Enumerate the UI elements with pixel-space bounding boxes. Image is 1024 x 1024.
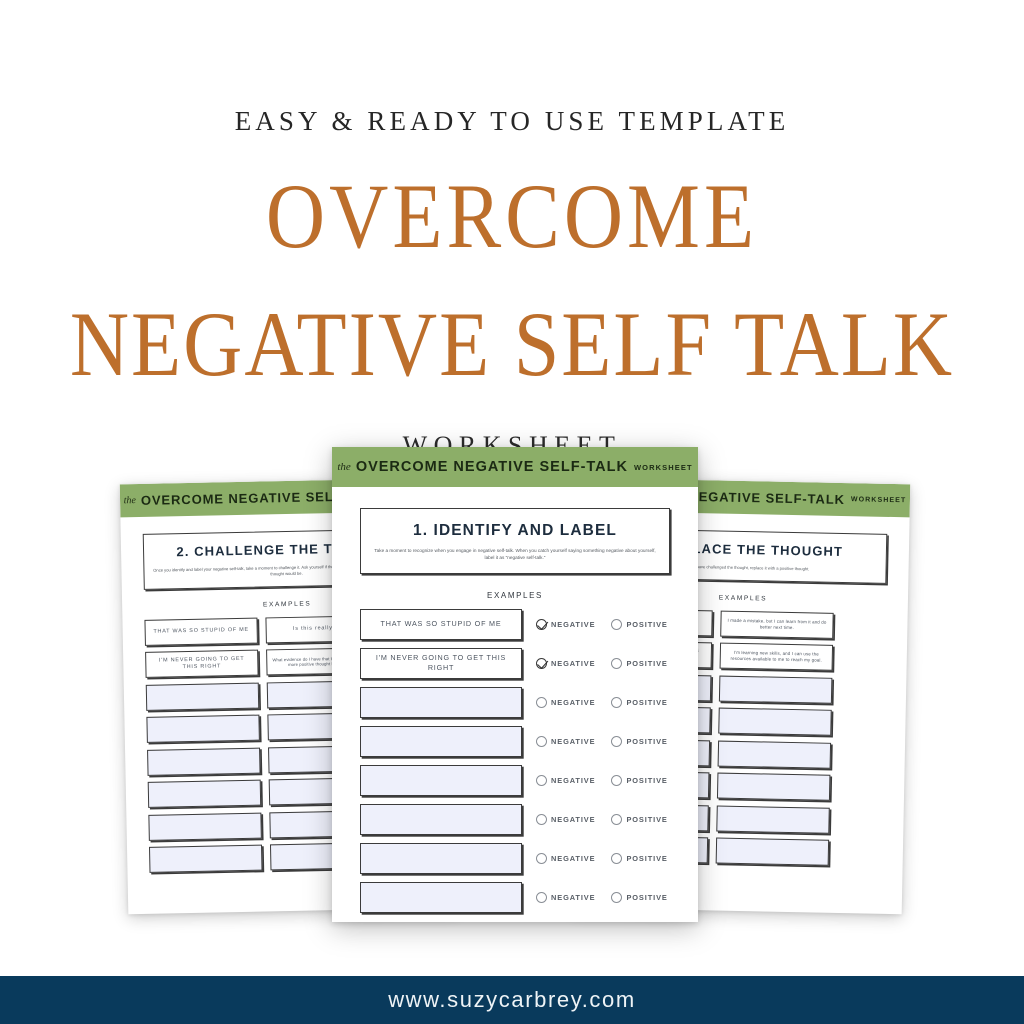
radio-label-positive: POSITIVE (626, 620, 667, 629)
cell-text: I'M NEVER GOING TO GET THIS RIGHT (367, 653, 515, 672)
thought-input-field[interactable] (148, 780, 261, 808)
banner-worksheet-label: WORKSHEET (851, 496, 907, 504)
radio-label-negative: NEGATIVE (551, 737, 595, 746)
cell-text: I made a mistake, but I can learn from i… (725, 618, 828, 632)
radio-unchecked-icon[interactable] (536, 853, 547, 864)
radio-option-positive[interactable]: POSITIVE (611, 658, 667, 669)
thought-input-field[interactable] (718, 740, 831, 768)
radio-label-negative: NEGATIVE (551, 893, 595, 902)
thought-input-field[interactable] (717, 773, 830, 801)
thought-example-cell: THAT WAS SO STUPID OF ME (144, 617, 257, 645)
thought-input-field[interactable] (360, 882, 522, 913)
cell-text: THAT WAS SO STUPID OF ME (381, 619, 502, 629)
radio-unchecked-icon[interactable] (536, 814, 547, 825)
radio-unchecked-icon[interactable] (536, 775, 547, 786)
thought-input-field[interactable] (360, 726, 522, 757)
radio-option-positive[interactable]: POSITIVE (611, 892, 667, 903)
radio-label-positive: POSITIVE (626, 737, 667, 746)
worksheet-row: NEGATIVEPOSITIVE (360, 687, 670, 718)
thought-input-field[interactable] (360, 687, 522, 718)
radio-unchecked-icon[interactable] (611, 892, 622, 903)
radio-unchecked-icon[interactable] (611, 814, 622, 825)
radio-label-negative: NEGATIVE (551, 659, 595, 668)
thought-input-field[interactable] (716, 838, 829, 866)
thought-input-field[interactable] (148, 812, 261, 840)
thought-input-field[interactable] (360, 765, 522, 796)
radio-option-positive[interactable]: POSITIVE (611, 736, 667, 747)
radio-option-negative[interactable]: NEGATIVE (536, 697, 595, 708)
radio-unchecked-icon[interactable] (611, 775, 622, 786)
radio-unchecked-icon[interactable] (611, 736, 622, 747)
thought-input-field[interactable] (146, 682, 259, 710)
radio-label-negative: NEGATIVE (551, 620, 595, 629)
worksheet-page-center[interactable]: the OVERCOME NEGATIVE SELF-TALK WORKSHEE… (332, 447, 698, 922)
radio-label-positive: POSITIVE (626, 893, 667, 902)
radio-option-negative[interactable]: NEGATIVE (536, 892, 595, 903)
radio-unchecked-icon[interactable] (536, 736, 547, 747)
thought-input-field[interactable] (149, 845, 262, 873)
thought-input-field[interactable] (718, 708, 831, 736)
radio-checked-icon[interactable] (536, 619, 547, 630)
worksheet-row: NEGATIVEPOSITIVE (360, 765, 670, 796)
label-radio-group: NEGATIVEPOSITIVE (536, 814, 668, 825)
thought-example-cell: THAT WAS SO STUPID OF ME (360, 609, 522, 640)
banner-title: OVERCOME NEGATIVE SELF-TALK (356, 459, 628, 475)
radio-label-negative: NEGATIVE (551, 776, 595, 785)
radio-checked-icon[interactable] (536, 658, 547, 669)
radio-unchecked-icon[interactable] (536, 697, 547, 708)
thought-example-cell: I'M NEVER GOING TO GET THIS RIGHT (360, 648, 522, 679)
banner-worksheet-label: WORKSHEET (634, 463, 693, 472)
radio-option-negative[interactable]: NEGATIVE (536, 853, 595, 864)
radio-option-positive[interactable]: POSITIVE (611, 697, 667, 708)
worksheet-row: NEGATIVEPOSITIVE (360, 843, 670, 874)
thought-input-field[interactable] (360, 804, 522, 835)
radio-option-negative[interactable]: NEGATIVE (536, 658, 595, 669)
radio-option-negative[interactable]: NEGATIVE (536, 814, 595, 825)
thought-input-field[interactable] (147, 747, 260, 775)
thought-input-field[interactable] (716, 805, 829, 833)
worksheet-row: I'M NEVER GOING TO GET THIS RIGHTNEGATIV… (360, 648, 670, 679)
radio-unchecked-icon[interactable] (611, 619, 622, 630)
rows-container-center: THAT WAS SO STUPID OF MENEGATIVEPOSITIVE… (332, 609, 698, 913)
radio-label-positive: POSITIVE (626, 815, 667, 824)
radio-option-positive[interactable]: POSITIVE (611, 814, 667, 825)
label-radio-group: NEGATIVEPOSITIVE (536, 775, 668, 786)
radio-label-negative: NEGATIVE (551, 698, 595, 707)
section-description-center: Take a moment to recognize when you enga… (371, 548, 659, 562)
banner-the-label: the (337, 461, 350, 473)
thought-input-field[interactable] (719, 675, 832, 703)
worksheet-banner-center: the OVERCOME NEGATIVE SELF-TALK WORKSHEE… (332, 447, 698, 487)
radio-unchecked-icon[interactable] (611, 853, 622, 864)
examples-label-center: EXAMPLES (332, 591, 698, 600)
radio-option-positive[interactable]: POSITIVE (611, 775, 667, 786)
worksheet-row: NEGATIVEPOSITIVE (360, 726, 670, 757)
radio-label-positive: POSITIVE (626, 776, 667, 785)
radio-label-negative: NEGATIVE (551, 854, 595, 863)
label-radio-group: NEGATIVEPOSITIVE (536, 658, 668, 669)
radio-unchecked-icon[interactable] (611, 697, 622, 708)
radio-option-positive[interactable]: POSITIVE (611, 619, 667, 630)
radio-option-negative[interactable]: NEGATIVE (536, 775, 595, 786)
radio-label-positive: POSITIVE (626, 659, 667, 668)
banner-the-label: the (124, 495, 136, 506)
radio-option-negative[interactable]: NEGATIVE (536, 736, 595, 747)
label-radio-group: NEGATIVEPOSITIVE (536, 619, 668, 630)
worksheet-row: NEGATIVEPOSITIVE (360, 804, 670, 835)
section-heading-card-center: 1. IDENTIFY AND LABEL Take a moment to r… (360, 508, 670, 574)
cell-text: I'M NEVER GOING TO GET THIS RIGHT (150, 656, 253, 673)
cell-text: THAT WAS SO STUPID OF ME (153, 627, 249, 636)
worksheet-row: THAT WAS SO STUPID OF MENEGATIVEPOSITIVE (360, 609, 670, 640)
radio-option-positive[interactable]: POSITIVE (611, 853, 667, 864)
radio-option-negative[interactable]: NEGATIVE (536, 619, 595, 630)
thought-input-field[interactable] (360, 843, 522, 874)
thought-example-cell: I'm learning new skills, and I can use t… (720, 643, 833, 671)
radio-unchecked-icon[interactable] (536, 892, 547, 903)
label-radio-group: NEGATIVEPOSITIVE (536, 697, 668, 708)
label-radio-group: NEGATIVEPOSITIVE (536, 853, 668, 864)
cell-text: I'm learning new skills, and I can use t… (725, 650, 828, 664)
thought-example-cell: I'M NEVER GOING TO GET THIS RIGHT (145, 650, 258, 678)
footer-website-url[interactable]: www.suzycarbrey.com (388, 987, 636, 1013)
radio-label-positive: POSITIVE (626, 698, 667, 707)
worksheet-mockup-stage: the OVERCOME NEGATIVE SELF-TALK WORKSHEE… (0, 0, 1024, 1024)
section-heading-center: 1. IDENTIFY AND LABEL (371, 522, 659, 540)
radio-unchecked-icon[interactable] (611, 658, 622, 669)
radio-label-positive: POSITIVE (626, 854, 667, 863)
thought-example-cell: I made a mistake, but I can learn from i… (720, 610, 833, 638)
footer-bar: www.suzycarbrey.com (0, 976, 1024, 1024)
label-radio-group: NEGATIVEPOSITIVE (536, 736, 668, 747)
radio-label-negative: NEGATIVE (551, 815, 595, 824)
worksheet-row: NEGATIVEPOSITIVE (360, 882, 670, 913)
thought-input-field[interactable] (146, 715, 259, 743)
label-radio-group: NEGATIVEPOSITIVE (536, 892, 668, 903)
